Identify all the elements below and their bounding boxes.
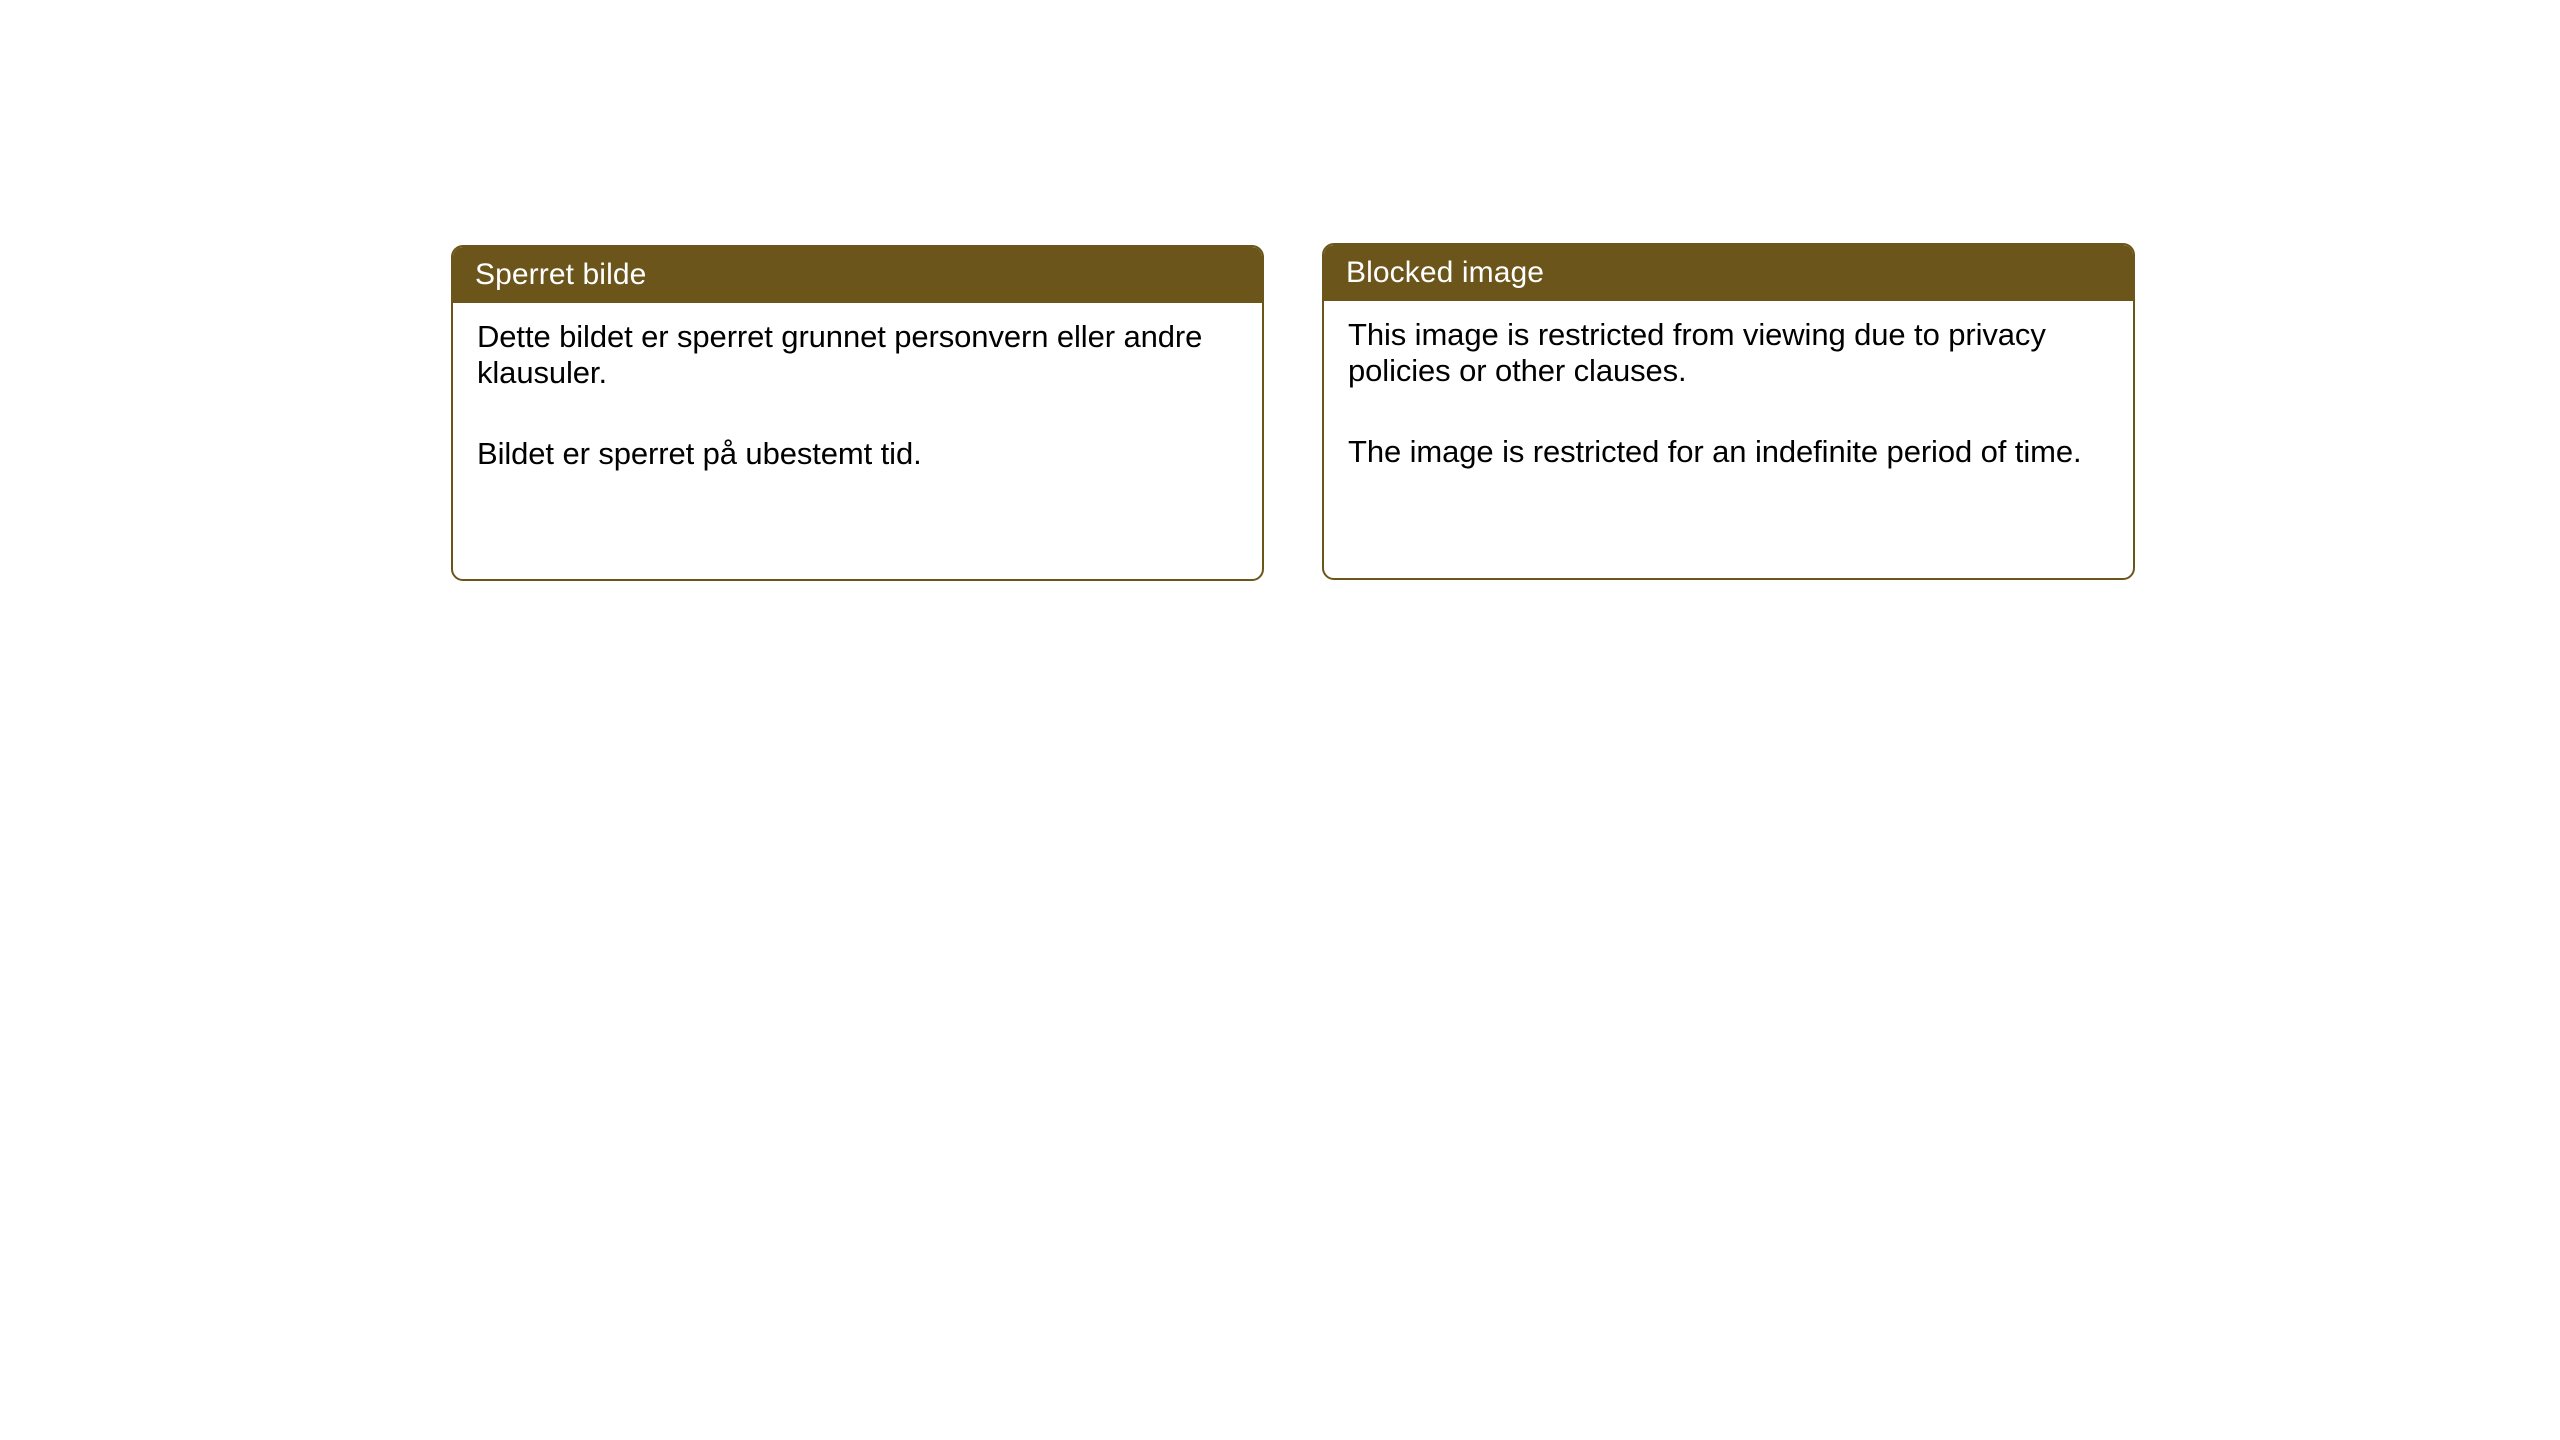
notice-paragraph-duration-en: The image is restricted for an indefinit…: [1348, 434, 2113, 470]
notice-card-header-no: Sperret bilde: [453, 247, 1262, 303]
notice-card-body-no: Dette bildet er sperret grunnet personve…: [453, 303, 1262, 490]
blocked-image-notice-card-no: Sperret bilde Dette bildet er sperret gr…: [451, 245, 1264, 581]
notice-card-title-no: Sperret bilde: [475, 260, 646, 290]
notice-paragraph-reason-en: This image is restricted from viewing du…: [1348, 317, 2113, 390]
notice-card-header-en: Blocked image: [1324, 245, 2133, 301]
notice-card-body-en: This image is restricted from viewing du…: [1324, 301, 2133, 488]
notice-card-title-en: Blocked image: [1346, 258, 1544, 288]
page-canvas: Sperret bilde Dette bildet er sperret gr…: [0, 0, 2560, 1440]
notice-paragraph-duration-no: Bildet er sperret på ubestemt tid.: [477, 436, 1242, 472]
blocked-image-notice-card-en: Blocked image This image is restricted f…: [1322, 243, 2135, 580]
notice-paragraph-reason-no: Dette bildet er sperret grunnet personve…: [477, 319, 1242, 392]
